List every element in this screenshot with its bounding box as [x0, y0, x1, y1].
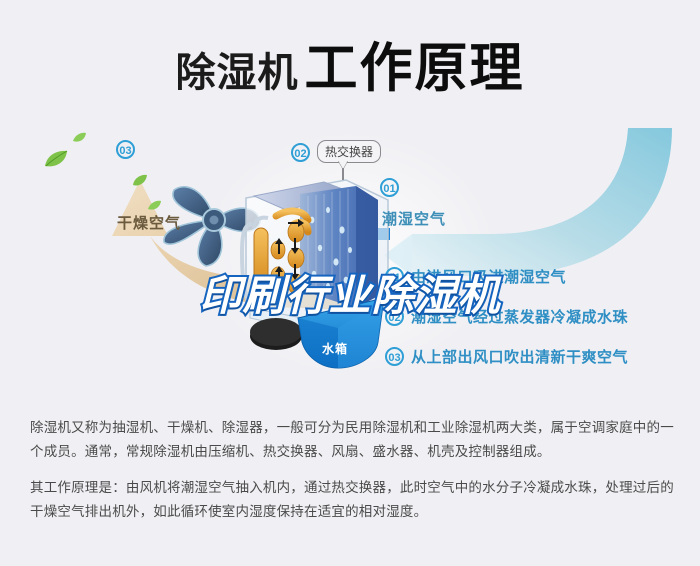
- legend-badge-03: 03: [385, 347, 404, 366]
- leaf-icon: [44, 150, 68, 168]
- leaf-icon: [132, 174, 148, 187]
- legend-item: 01 由进风口吸进潮湿空气: [385, 266, 685, 287]
- infographic-page: 除湿机工作原理: [0, 0, 700, 566]
- water-tank-label: 水箱: [322, 340, 348, 357]
- step-01-badge: 01: [380, 178, 399, 197]
- body-paragraph-1: 除湿机又称为抽湿机、干燥机、除湿器，一般可分为民用除湿机和工业除湿机两大类，属于…: [30, 416, 675, 464]
- title-part-1: 除湿机: [176, 51, 299, 95]
- body-copy: 除湿机又称为抽湿机、干燥机、除湿器，一般可分为民用除湿机和工业除湿机两大类，属于…: [30, 416, 675, 536]
- heat-exchanger-callout: 热交换器: [317, 140, 381, 163]
- dry-air-label: 干燥空气: [117, 212, 181, 233]
- step-03-marker: 03: [116, 140, 135, 159]
- step-02-badge: 02: [291, 143, 310, 162]
- leaf-icon: [73, 132, 87, 143]
- legend-badge-01: 01: [385, 267, 404, 286]
- step-02-marker: 02: [291, 143, 310, 162]
- step-03-badge: 03: [116, 140, 135, 159]
- legend-text-03: 从上部出风口吹出清新干爽空气: [411, 346, 628, 367]
- legend-list: 01 由进风口吸进潮湿空气 02 潮湿空气经过蒸发器冷凝成水珠 03 从上部出风…: [385, 266, 685, 386]
- step-01-marker: 01: [380, 178, 399, 197]
- callout-stem: [342, 168, 344, 180]
- legend-text-01: 由进风口吸进潮湿空气: [411, 266, 566, 287]
- title-part-2: 工作原理: [305, 39, 525, 98]
- legend-item: 03 从上部出风口吹出清新干爽空气: [385, 346, 685, 367]
- page-title: 除湿机工作原理: [0, 26, 700, 102]
- moist-air-label: 潮湿空气: [382, 208, 446, 229]
- legend-item: 02 潮湿空气经过蒸发器冷凝成水珠: [385, 306, 685, 327]
- body-paragraph-2: 其工作原理是：由风机将潮湿空气抽入机内，通过热交换器，此时空气中的水分子冷凝成水…: [30, 476, 675, 524]
- legend-badge-02: 02: [385, 307, 404, 326]
- legend-text-02: 潮湿空气经过蒸发器冷凝成水珠: [411, 306, 628, 327]
